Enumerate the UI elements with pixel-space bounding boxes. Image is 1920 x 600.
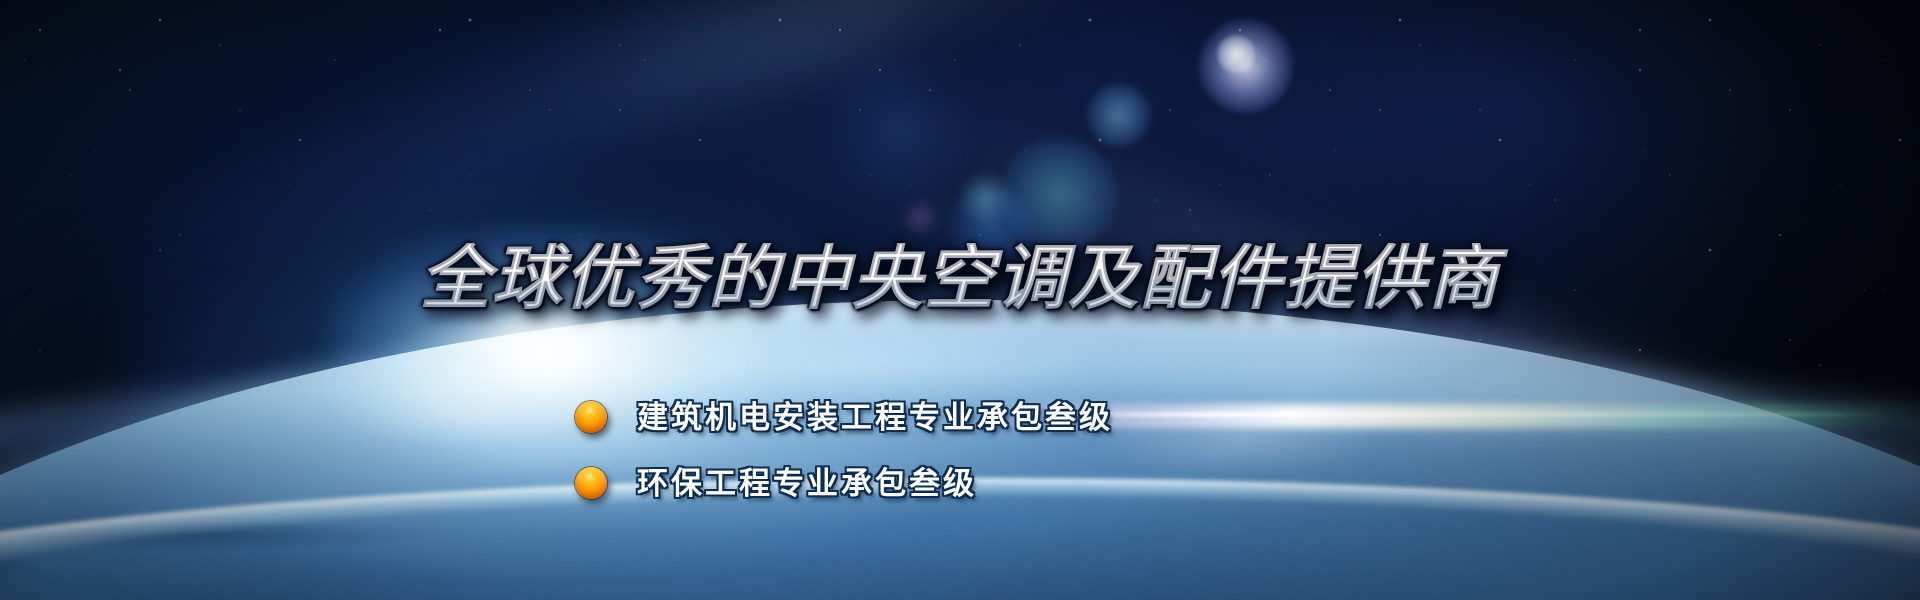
list-item: 建筑机电安装工程专业承包叁级 bbox=[575, 384, 1113, 450]
orange-bullet-icon bbox=[575, 467, 607, 499]
orange-bullet-icon bbox=[575, 401, 607, 433]
banner-content: 全球优秀的中央空调及配件提供商 建筑机电安装工程专业承包叁级 环保工程专业承包叁… bbox=[0, 0, 1920, 600]
list-item: 环保工程专业承包叁级 bbox=[575, 450, 1113, 516]
banner-bullet-list: 建筑机电安装工程专业承包叁级 环保工程专业承包叁级 bbox=[575, 384, 1113, 516]
hero-banner: 全球优秀的中央空调及配件提供商 建筑机电安装工程专业承包叁级 环保工程专业承包叁… bbox=[0, 0, 1920, 600]
bullet-label: 建筑机电安装工程专业承包叁级 bbox=[637, 402, 1113, 433]
banner-headline: 全球优秀的中央空调及配件提供商 bbox=[0, 243, 1920, 313]
bullet-label: 环保工程专业承包叁级 bbox=[637, 468, 977, 499]
